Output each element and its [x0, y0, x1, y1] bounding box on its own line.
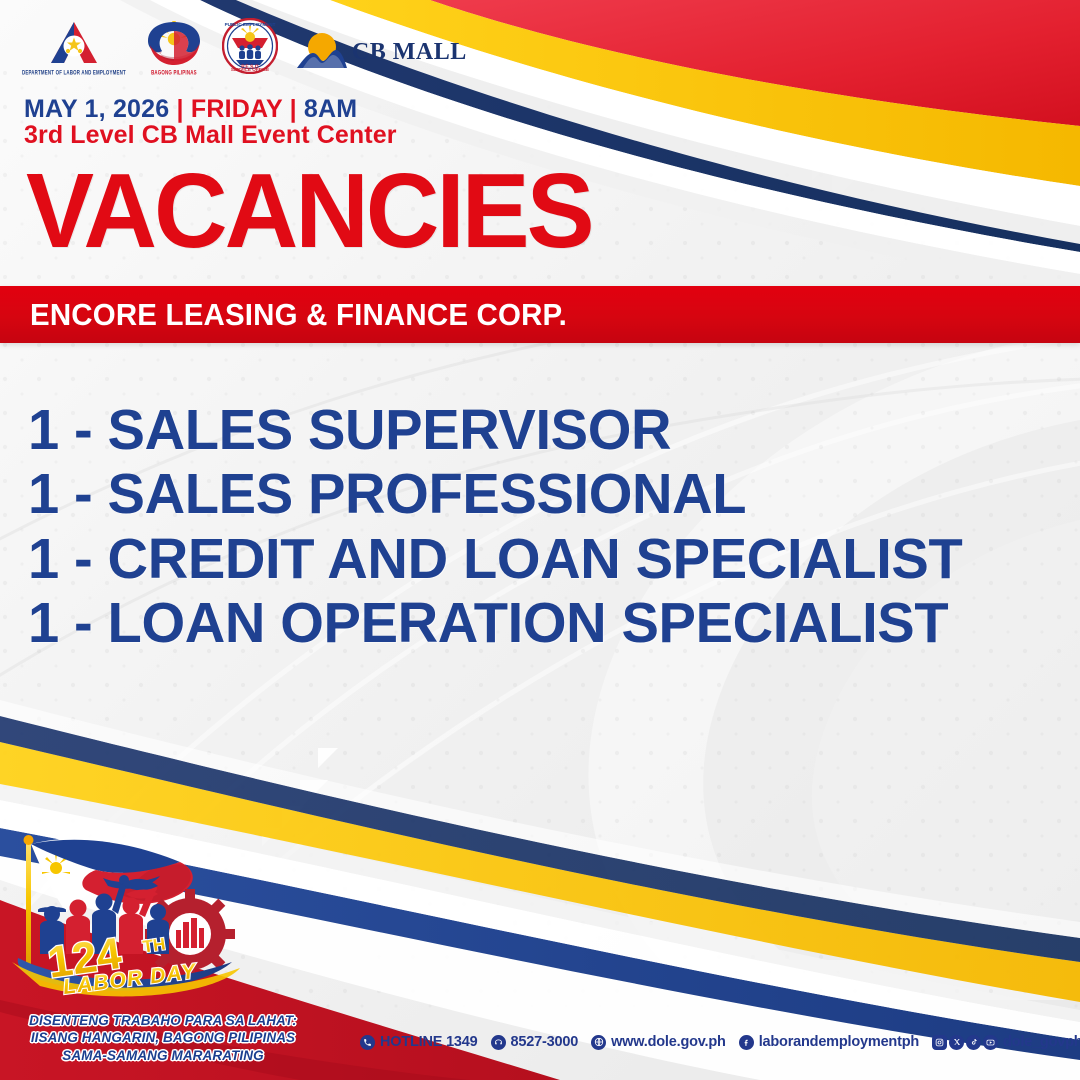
- youtube-icon[interactable]: [983, 1035, 998, 1050]
- company-banner: ENCORE LEASING & FINANCE CORP.: [0, 286, 1080, 343]
- social-icon-group: [932, 1035, 998, 1050]
- job-row: 1 - LOAN OPERATION SPECIALIST: [28, 591, 1052, 655]
- page-title: VACANCIES: [26, 158, 592, 264]
- bagong-pilipinas-caption: BAGONG PILIPINAS: [151, 69, 197, 76]
- facebook-label: laborandemploymentph: [759, 1034, 919, 1050]
- job-row: 1 - SALES PROFESSIONAL: [28, 462, 1052, 526]
- cb-mall-label: CB MALL: [352, 39, 467, 66]
- globe-icon: [591, 1035, 606, 1050]
- social-handle-label: dole_govph: [1003, 1034, 1080, 1050]
- event-date: MAY 1, 2026: [24, 95, 169, 123]
- website-item[interactable]: www.dole.gov.ph: [591, 1034, 726, 1050]
- logo-row: DEPARTMENT OF LABOR AND EMPLOYMENT: [22, 18, 467, 74]
- event-time: 8AM: [304, 95, 357, 123]
- emblem-ordinal: TH: [141, 934, 166, 956]
- event-separator-2: |: [290, 95, 297, 123]
- bagong-pilipinas-logo-icon: [144, 19, 204, 67]
- slogan-line-2: IISANG HANGARIN, BAGONG PILIPINAS: [8, 1029, 318, 1046]
- hotline-item[interactable]: HOTLINE 1349: [360, 1034, 478, 1050]
- slogan-line-1: DISENTENG TRABAHO PARA SA LAHAT:: [8, 1012, 318, 1029]
- dole-logo: DEPARTMENT OF LABOR AND EMPLOYMENT: [22, 19, 126, 75]
- job-row: 1 - SALES SUPERVISOR: [28, 398, 1052, 462]
- job-row: 1 - CREDIT AND LOAN SPECIALIST: [28, 527, 1052, 591]
- instagram-icon[interactable]: [932, 1035, 947, 1050]
- footer-contact-bar: HOTLINE 1349 8527-3000 www.dole.gov.ph l…: [360, 1034, 1080, 1050]
- company-name: ENCORE LEASING & FINANCE CORP.: [30, 297, 567, 333]
- event-separator-1: |: [177, 95, 184, 123]
- facebook-item[interactable]: laborandemploymentph: [739, 1034, 919, 1050]
- phone-icon: [360, 1035, 375, 1050]
- job-vacancy-list: 1 - SALES SUPERVISOR 1 - SALES PROFESSIO…: [28, 398, 1068, 656]
- cb-mall-logo-icon: [296, 30, 348, 74]
- social-handle-item[interactable]: dole_govph: [932, 1034, 1080, 1050]
- vacancy-poster: DEPARTMENT OF LABOR AND EMPLOYMENT: [0, 0, 1080, 1080]
- event-day: FRIDAY: [191, 95, 283, 123]
- slogan-line-3: SAMA-SAMANG MARARATING: [8, 1047, 318, 1064]
- cb-mall-logo: CB MALL: [296, 30, 467, 74]
- telephone-icon: [491, 1035, 506, 1050]
- facebook-icon: [739, 1035, 754, 1050]
- dole-logo-caption: DEPARTMENT OF LABOR AND EMPLOYMENT: [22, 69, 126, 76]
- peso-logo: PUBLIC EMPLOYMENT SERVICE OFFICE P.E.S.O: [222, 18, 278, 74]
- labor-day-slogan: DISENTENG TRABAHO PARA SA LAHAT: IISANG …: [8, 1012, 318, 1064]
- peso-logo-icon: PUBLIC EMPLOYMENT SERVICE OFFICE P.E.S.O: [222, 18, 278, 74]
- tiktok-icon[interactable]: [966, 1035, 981, 1050]
- svg-text:P.E.S.O: P.E.S.O: [241, 65, 259, 71]
- event-venue: 3rd Level CB Mall Event Center: [24, 122, 397, 149]
- website-label: www.dole.gov.ph: [611, 1034, 726, 1050]
- bagong-pilipinas-logo: BAGONG PILIPINAS: [144, 19, 204, 75]
- telephone-label: 8527-3000: [511, 1034, 579, 1050]
- event-datetime: MAY 1, 2026 | FRIDAY | 8AM: [24, 96, 357, 123]
- labor-day-emblem: 124 TH LABOR DAY: [0, 826, 300, 1026]
- telephone-item[interactable]: 8527-3000: [491, 1034, 579, 1050]
- hotline-label: HOTLINE 1349: [380, 1034, 478, 1050]
- dole-logo-icon: [48, 19, 100, 67]
- x-twitter-icon[interactable]: [949, 1035, 964, 1050]
